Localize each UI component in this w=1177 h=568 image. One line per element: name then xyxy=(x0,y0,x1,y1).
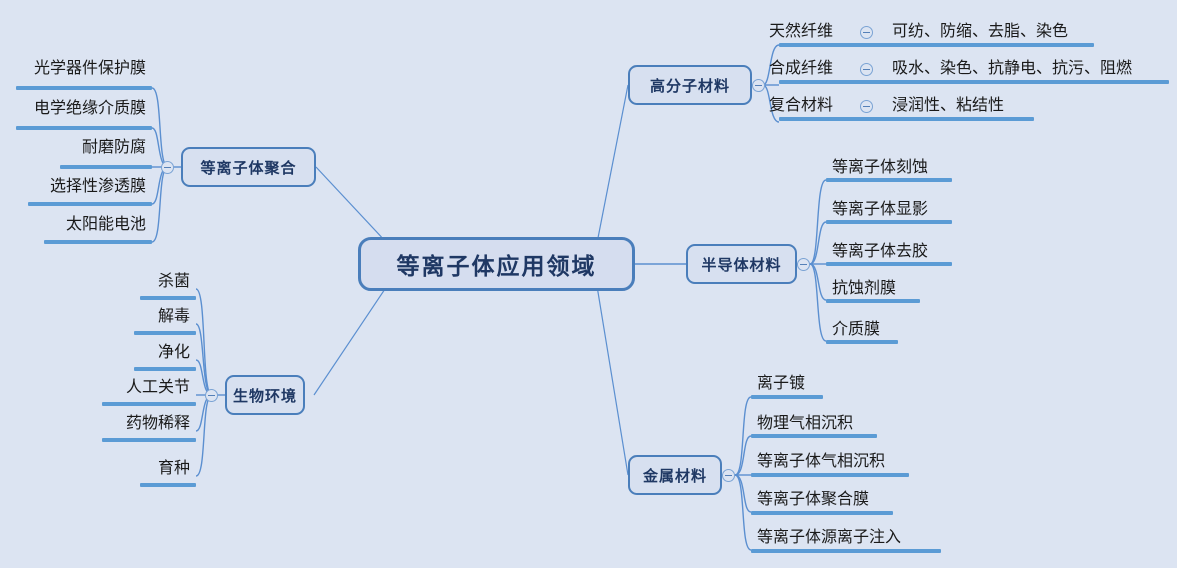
leaf-underline-bio-1 xyxy=(134,331,196,335)
leaf-polymer-2[interactable]: 复合材料 xyxy=(767,94,855,118)
leaf-underline-semiconductor-2 xyxy=(826,262,952,266)
leaf-metal-2[interactable]: 等离子体气相沉积 xyxy=(755,450,887,474)
leaf-underline-semiconductor-1 xyxy=(826,220,952,224)
leaf-underline-bio-5 xyxy=(140,483,196,487)
leaf-underline-metal-4 xyxy=(751,549,941,553)
leaf-semiconductor-1[interactable]: 等离子体显影 xyxy=(830,198,930,222)
leaf-detail-polymer-0[interactable]: 可纺、防缩、去脂、染色 xyxy=(890,20,1070,44)
fan-metal-4 xyxy=(735,475,751,550)
leaf-label: 复合材料 xyxy=(769,97,833,114)
leaf-detail-polymer-2[interactable]: 浸润性、粘结性 xyxy=(890,94,1006,118)
leaf-underline-semiconductor-0 xyxy=(826,178,952,182)
leaf-polymerization-1[interactable]: 电学绝缘介质膜 xyxy=(0,97,148,121)
leaf-semiconductor-2[interactable]: 等离子体去胶 xyxy=(830,240,930,264)
leaf-underline-semiconductor-3 xyxy=(826,299,920,303)
fan-semi-3 xyxy=(810,264,826,300)
leaf-polymer-1[interactable]: 合成纤维 xyxy=(767,57,855,81)
leaf-bio-5[interactable]: 育种 xyxy=(44,457,192,481)
leaf-semiconductor-0[interactable]: 等离子体刻蚀 xyxy=(830,156,930,180)
leaf-metal-4[interactable]: 等离子体源离子注入 xyxy=(755,526,903,550)
leaf-bio-3[interactable]: 人工关节 xyxy=(44,376,192,400)
fan-semi-4 xyxy=(810,264,826,341)
leaf-detail-label: 吸水、染色、抗静电、抗污、阻燃 xyxy=(892,60,1132,77)
collapse-toggle-polymer-2[interactable] xyxy=(860,100,873,113)
leaf-metal-0[interactable]: 离子镀 xyxy=(755,372,807,396)
leaf-polymerization-3[interactable]: 选择性渗透膜 xyxy=(0,175,148,199)
leaf-label: 合成纤维 xyxy=(769,60,833,77)
collapse-toggle-bio[interactable] xyxy=(205,389,218,402)
leaf-label: 等离子体去胶 xyxy=(832,243,928,260)
connector-root-polymer xyxy=(597,85,628,243)
mindmap-canvas: 等离子体应用领域 高分子材料 天然纤维 可纺、防缩、去脂、染色 合成纤维 吸水、… xyxy=(0,0,1177,568)
root-node[interactable]: 等离子体应用领域 xyxy=(358,237,635,291)
leaf-underline-semiconductor-4 xyxy=(826,340,898,344)
leaf-metal-3[interactable]: 等离子体聚合膜 xyxy=(755,488,871,512)
fan-bio-1 xyxy=(196,324,212,395)
leaf-label: 离子镀 xyxy=(757,375,805,392)
connector-root-bio xyxy=(314,286,387,395)
connector-root-metal xyxy=(597,286,628,475)
leaf-underline-polymerization-0 xyxy=(16,86,152,90)
leaf-underline-bio-2 xyxy=(134,367,196,371)
fan-semi-0 xyxy=(810,180,826,264)
leaf-bio-1[interactable]: 解毒 xyxy=(44,305,192,329)
leaf-label: 净化 xyxy=(158,344,190,361)
leaf-semiconductor-3[interactable]: 抗蚀剂膜 xyxy=(830,277,898,301)
leaf-bio-0[interactable]: 杀菌 xyxy=(44,270,192,294)
fan-poly-0 xyxy=(152,88,168,167)
leaf-underline-metal-0 xyxy=(751,395,823,399)
leaf-underline-metal-2 xyxy=(751,473,909,477)
leaf-bio-4[interactable]: 药物稀释 xyxy=(44,412,192,436)
collapse-toggle-polymer-0[interactable] xyxy=(860,26,873,39)
leaf-underline-metal-1 xyxy=(751,434,877,438)
collapse-toggle-polymer[interactable] xyxy=(752,79,765,92)
leaf-underline-polymerization-4 xyxy=(44,240,152,244)
leaf-bio-2[interactable]: 净化 xyxy=(44,341,192,365)
leaf-metal-1[interactable]: 物理气相沉积 xyxy=(755,412,855,436)
fan-metal-0 xyxy=(735,397,751,475)
branch-node-polymer[interactable]: 高分子材料 xyxy=(628,65,752,105)
collapse-toggle-polymer-1[interactable] xyxy=(860,63,873,76)
branch-node-semiconductor-label: 半导体材料 xyxy=(701,254,781,275)
branch-node-polymerization[interactable]: 等离子体聚合 xyxy=(181,147,316,187)
branch-node-polymerization-label: 等离子体聚合 xyxy=(200,157,296,178)
leaf-underline-metal-3 xyxy=(751,511,893,515)
leaf-underline-polymerization-3 xyxy=(28,202,152,206)
leaf-polymerization-0[interactable]: 光学器件保护膜 xyxy=(0,57,148,81)
leaf-label: 物理气相沉积 xyxy=(757,415,853,432)
fan-metal-1 xyxy=(735,436,751,475)
branch-node-polymer-label: 高分子材料 xyxy=(650,75,730,96)
fan-bio-0 xyxy=(196,289,212,395)
leaf-semiconductor-4[interactable]: 介质膜 xyxy=(830,318,882,342)
leaf-label: 光学器件保护膜 xyxy=(34,60,146,77)
leaf-label: 选择性渗透膜 xyxy=(50,178,146,195)
leaf-polymer-0[interactable]: 天然纤维 xyxy=(767,20,855,44)
collapse-toggle-polymerization[interactable] xyxy=(161,161,174,174)
fan-metal-3 xyxy=(735,475,751,512)
leaf-label: 等离子体显影 xyxy=(832,201,928,218)
leaf-polymerization-2[interactable]: 耐磨防腐 xyxy=(0,136,148,160)
leaf-label: 等离子体刻蚀 xyxy=(832,159,928,176)
leaf-label: 等离子体源离子注入 xyxy=(757,529,901,546)
collapse-toggle-metal[interactable] xyxy=(722,469,735,482)
leaf-label: 抗蚀剂膜 xyxy=(832,280,896,297)
leaf-detail-label: 可纺、防缩、去脂、染色 xyxy=(892,23,1068,40)
leaf-label: 药物稀释 xyxy=(126,415,190,432)
leaf-label: 杀菌 xyxy=(158,273,190,290)
leaf-underline-bio-4 xyxy=(102,438,196,442)
leaf-label: 天然纤维 xyxy=(769,23,833,40)
leaf-underline-polymerization-1 xyxy=(16,126,152,130)
leaf-underline-polymerization-2 xyxy=(60,165,152,169)
branch-node-metal-label: 金属材料 xyxy=(643,465,707,486)
connector-root-polymerization xyxy=(316,167,387,243)
branch-node-bio[interactable]: 生物环境 xyxy=(225,375,305,415)
leaf-label: 介质膜 xyxy=(832,321,880,338)
leaf-label: 人工关节 xyxy=(126,379,190,396)
leaf-label: 电学绝缘介质膜 xyxy=(34,100,146,117)
branch-node-metal[interactable]: 金属材料 xyxy=(628,455,722,495)
leaf-underline-bio-3 xyxy=(102,402,196,406)
leaf-detail-polymer-1[interactable]: 吸水、染色、抗静电、抗污、阻燃 xyxy=(890,57,1134,81)
leaf-label: 等离子体聚合膜 xyxy=(757,491,869,508)
fan-semi-1 xyxy=(810,222,826,264)
fan-poly-4 xyxy=(152,167,168,242)
branch-node-bio-label: 生物环境 xyxy=(233,385,297,406)
leaf-detail-label: 浸润性、粘结性 xyxy=(892,97,1004,114)
collapse-toggle-semiconductor[interactable] xyxy=(797,258,810,271)
fan-bio-5 xyxy=(196,395,212,476)
root-node-label: 等离子体应用领域 xyxy=(397,247,597,281)
leaf-underline-bio-0 xyxy=(140,296,196,300)
leaf-polymerization-4[interactable]: 太阳能电池 xyxy=(0,213,148,237)
leaf-label: 耐磨防腐 xyxy=(82,139,146,156)
leaf-label: 解毒 xyxy=(158,308,190,325)
leaf-label: 太阳能电池 xyxy=(66,216,146,233)
branch-node-semiconductor[interactable]: 半导体材料 xyxy=(686,244,797,284)
leaf-label: 育种 xyxy=(158,460,190,477)
leaf-label: 等离子体气相沉积 xyxy=(757,453,885,470)
